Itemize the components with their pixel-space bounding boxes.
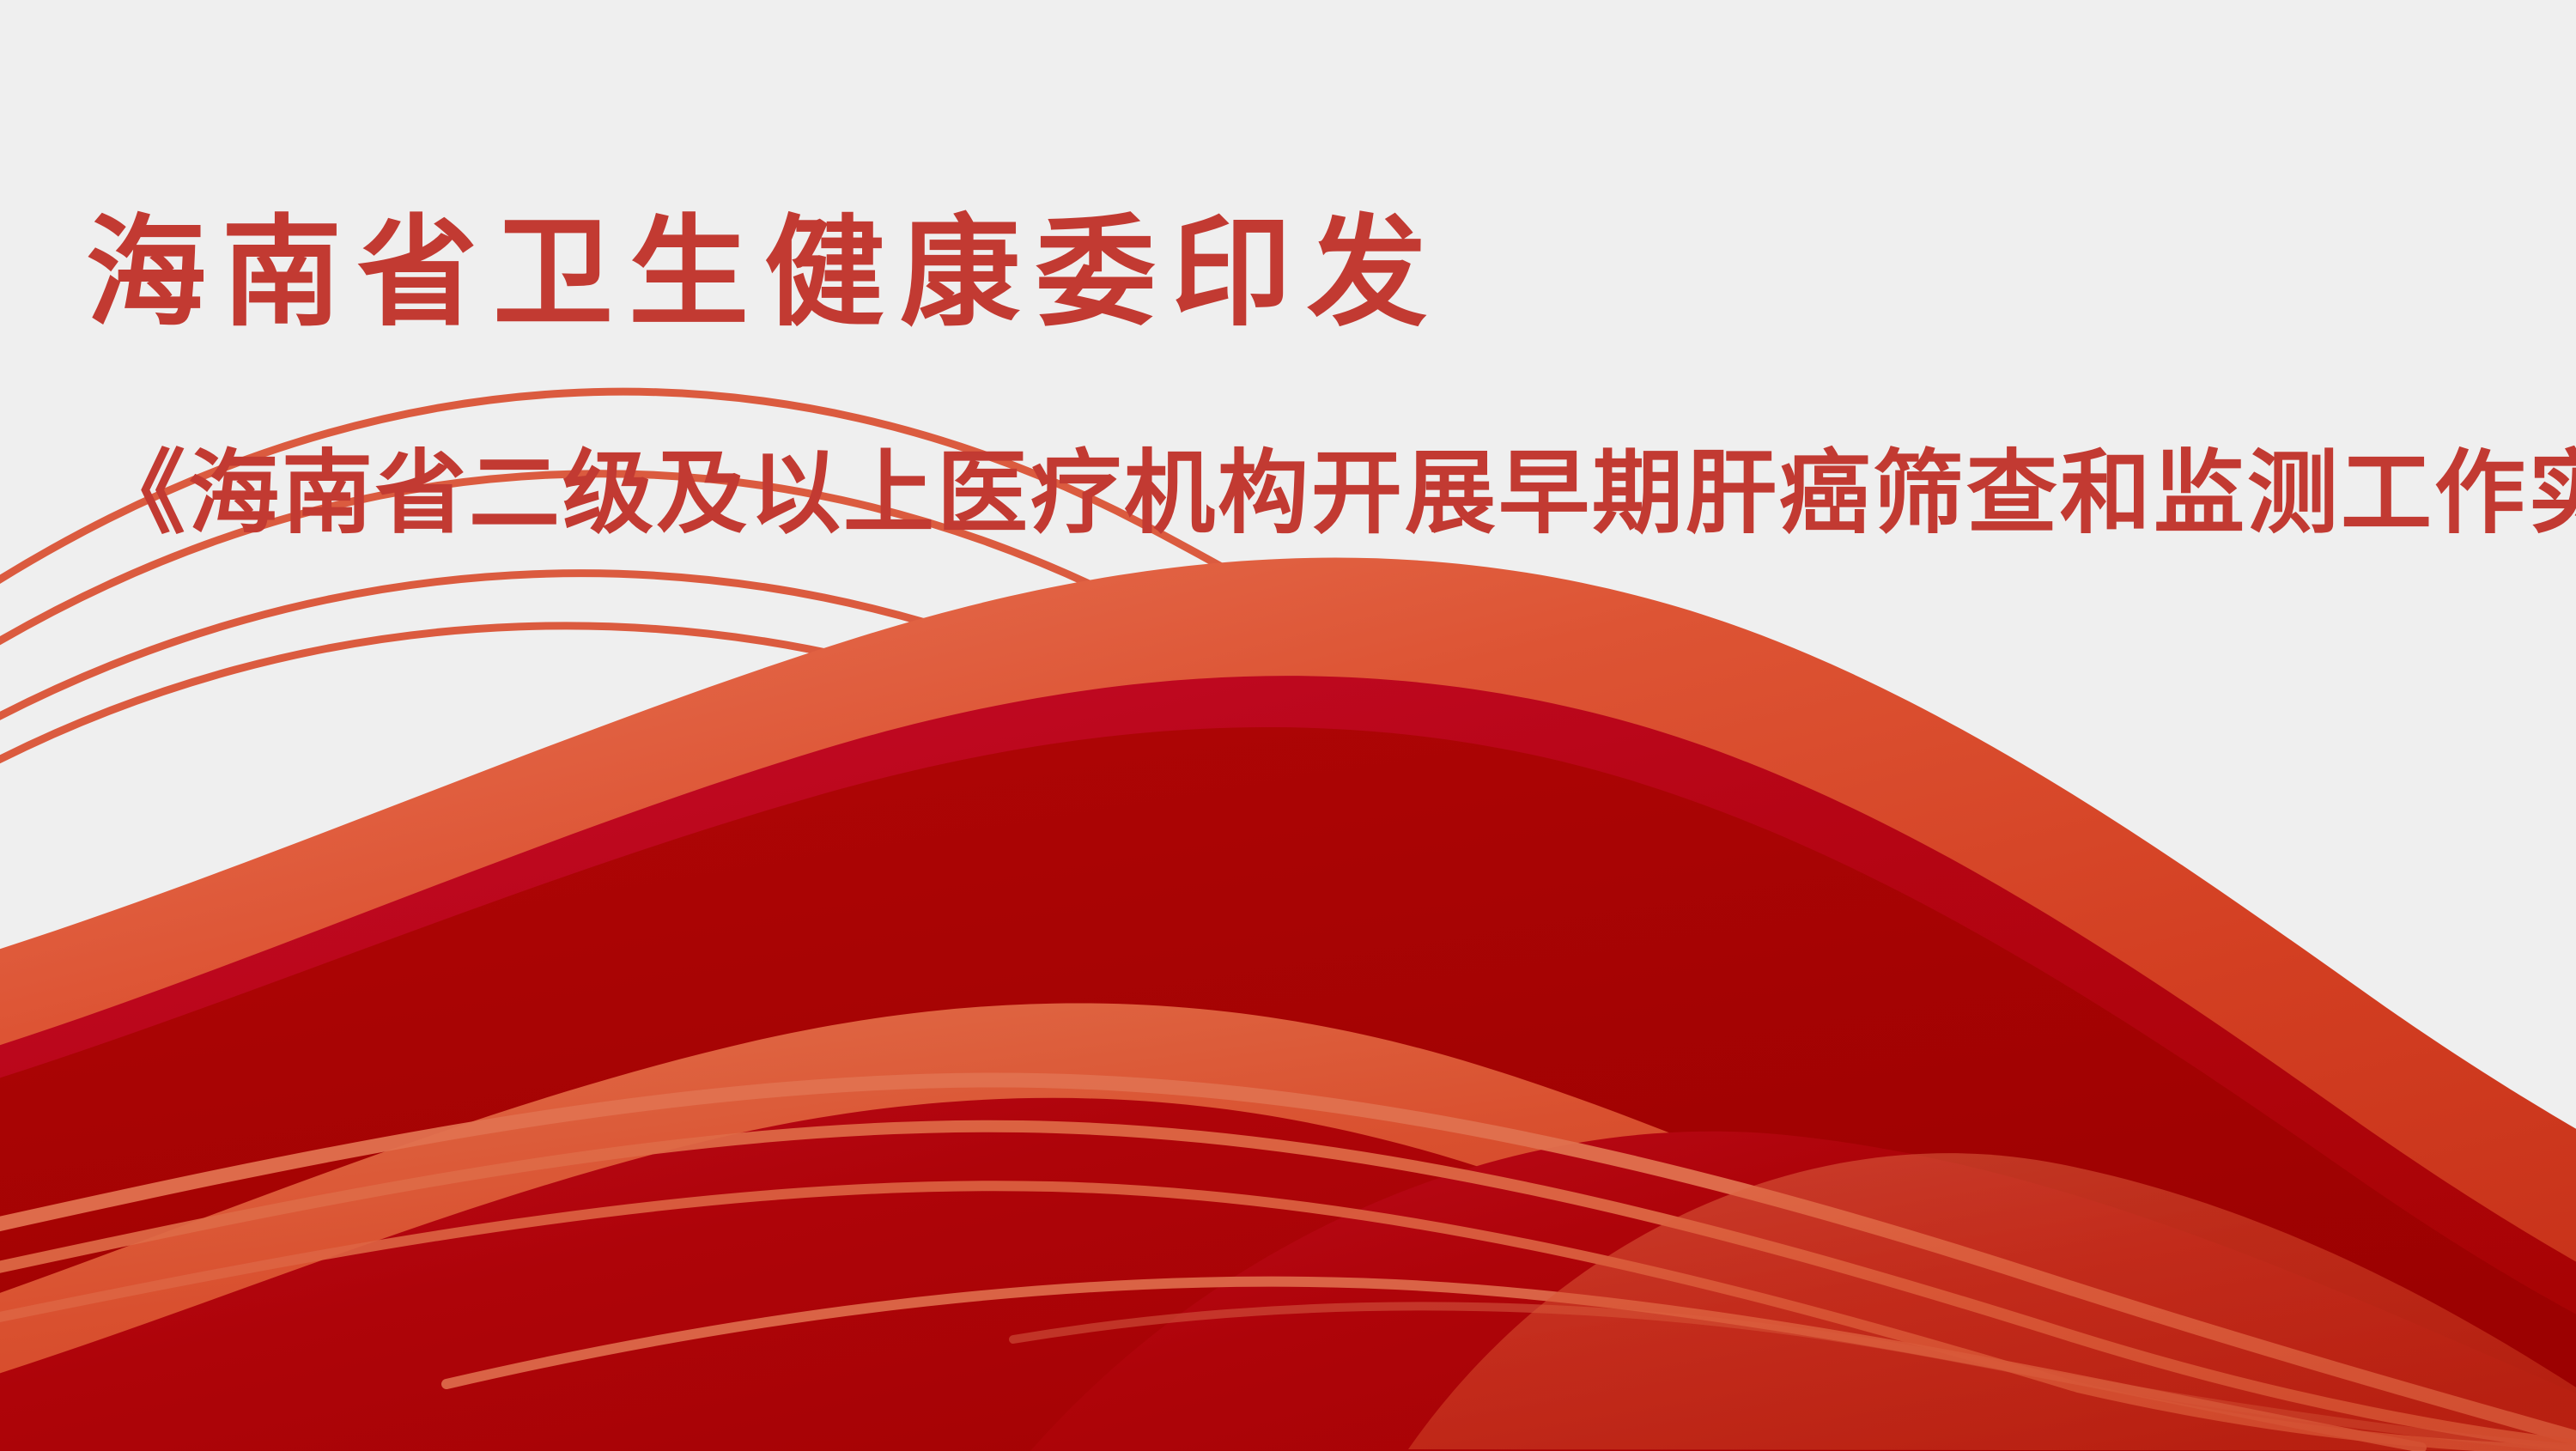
thin-arc-2	[0, 474, 2576, 1367]
streak-3	[0, 1186, 2576, 1451]
wave-band-coral-top	[0, 558, 2576, 1451]
streak-2	[0, 1126, 2576, 1449]
streak-5	[1013, 1306, 2576, 1451]
wave-band-deep-1	[0, 727, 2576, 1451]
coral-crest-sheen	[1408, 1153, 2576, 1451]
coral-highlight-streaks	[0, 1080, 2576, 1451]
streak-4	[447, 1282, 2421, 1448]
wave-band-coral-mid	[0, 1003, 2576, 1451]
wave-band-deep-right	[1030, 1132, 2576, 1451]
thin-arc-4	[0, 626, 2576, 1405]
wave-band-crimson-1	[0, 676, 2576, 1451]
thin-arc-3	[0, 574, 2576, 1391]
banner-poster: 海南省卫生健康委印发 《海南省二级及以上医疗机构开展早期肝癌筛查和监测工作实施方…	[0, 0, 2576, 1451]
page-title-line-2: 《海南省二级及以上医疗机构开展早期肝癌筛查和监测工作实施方案》	[94, 448, 2576, 539]
page-title-line-1: 海南省卫生健康委印发	[86, 213, 1443, 333]
streak-1	[0, 1080, 2576, 1448]
wave-band-deep-2	[0, 1098, 2198, 1451]
